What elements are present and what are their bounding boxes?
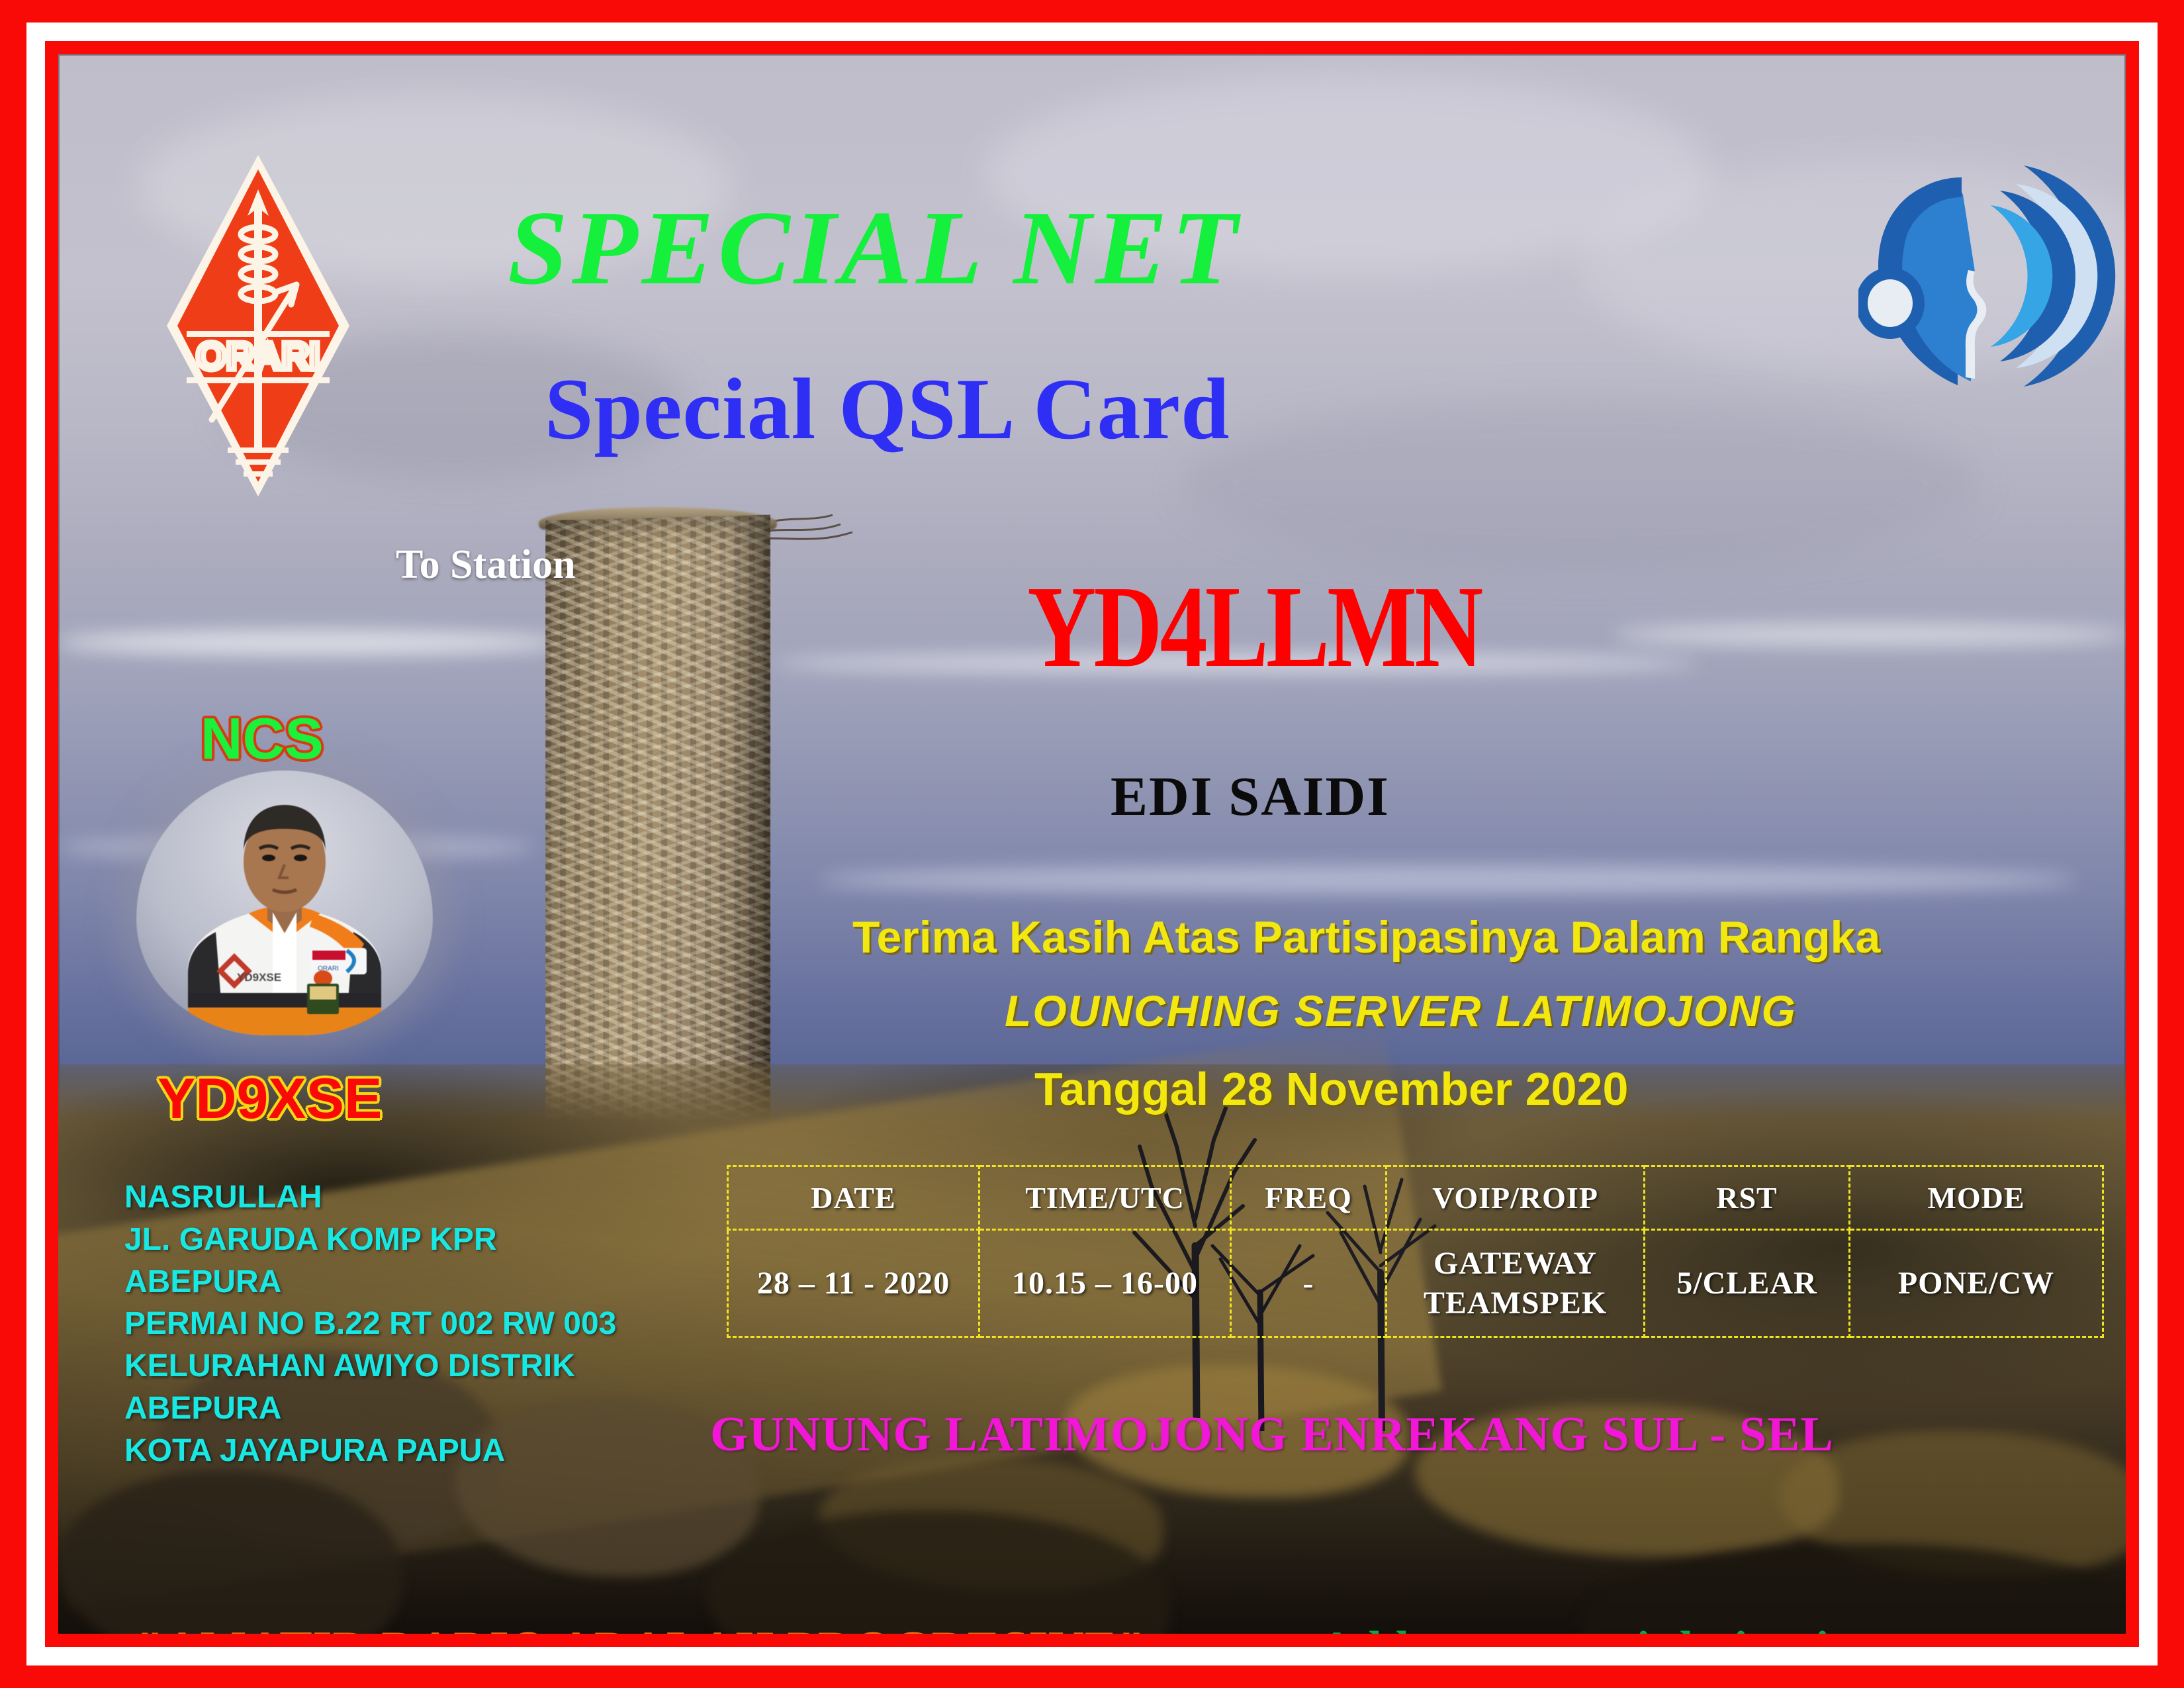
column-header-freq: FREQ: [1231, 1166, 1387, 1230]
table-row: 28 – 11 - 2020 10.15 – 16-00 - GATEWAY T…: [728, 1230, 2103, 1337]
cell-mode: PONE/CW: [1850, 1230, 2103, 1337]
column-header-date: DATE: [728, 1166, 979, 1230]
address-line: JL. GARUDA KOMP KPR: [124, 1219, 616, 1261]
cloud: [1183, 399, 1978, 571]
column-header-mode: MODE: [1850, 1166, 2103, 1230]
recipient-operator-name: EDI SAIDI: [1111, 769, 1390, 825]
table-header-row: DATE TIME/UTC FREQ VOIP/ROIP RST MODE: [728, 1166, 2103, 1230]
location-caption: GUNUNG LATIMOJONG ENREKANG SUL - SEL: [710, 1410, 1834, 1459]
qsl-card: ORARI: [0, 0, 2184, 1688]
cell-rst: 5/CLEAR: [1645, 1230, 1850, 1337]
cell-voip-roip: GATEWAY TEAMSPEK: [1387, 1230, 1645, 1337]
column-header-rst: RST: [1645, 1166, 1850, 1230]
event-name: LOUNCHING SERVER LATIMOJONG: [1005, 989, 1797, 1033]
background-photograph: ORARI: [58, 54, 2126, 1634]
address-line: PERMAI NO B.22 RT 002 RW 003: [124, 1303, 616, 1345]
radio-operator-headset-logo: [1858, 154, 2116, 399]
address-line: NASRULLAH: [124, 1176, 616, 1219]
avatar: ORARI YD9XSE: [136, 771, 433, 1035]
cloud-streak: [1614, 624, 2126, 646]
jacket-callsign: YD9XSE: [237, 971, 281, 984]
cell-time: 10.15 – 16-00: [979, 1230, 1231, 1337]
cloud-streak: [58, 630, 561, 655]
orari-logo: ORARI: [159, 147, 357, 504]
ncs-label: NCS: [201, 710, 324, 768]
event-date: Tanggal 28 November 2020: [1034, 1066, 1628, 1112]
column-header-voip-roip: VOIP/ROIP: [1387, 1166, 1645, 1230]
thanks-message: Terima Kasih Atas Partisipasinya Dalam R…: [852, 915, 1880, 960]
address-line: KELURAHAN AWIYO DISTRIK: [124, 1345, 616, 1387]
cell-date: 28 – 11 - 2020: [728, 1230, 979, 1337]
ncs-portrait-wrapper: ORARI YD9XSE: [136, 771, 433, 1035]
address-line: ABEPURA: [124, 1387, 616, 1430]
address-line: KOTA JAYAPURA PAPUA: [124, 1430, 616, 1472]
footer-motto: "AMATIR RADIO ADALAH PROGRESIVE": [136, 1624, 1146, 1634]
cell-freq: -: [1231, 1230, 1387, 1337]
address-line: ABEPURA: [124, 1261, 616, 1303]
sender-address-block: NASRULLAH JL. GARUDA KOMP KPR ABEPURA PE…: [124, 1176, 616, 1472]
footer-web-address: Address : amatir.latimojong.com: [1319, 1624, 2005, 1634]
page-title: SPECIAL NET: [508, 195, 1242, 301]
to-station-label: To Station: [396, 544, 576, 585]
cloud-streak: [819, 865, 2077, 894]
page-subtitle: Special QSL Card: [545, 365, 1230, 453]
recipient-callsign: YD4LLMN: [1027, 569, 1480, 686]
orari-wordmark: ORARI: [197, 335, 320, 378]
ncs-callsign: YD9XSE: [158, 1070, 382, 1127]
qso-log-table: DATE TIME/UTC FREQ VOIP/ROIP RST MODE 28…: [727, 1165, 2104, 1338]
column-header-time: TIME/UTC: [979, 1166, 1231, 1230]
